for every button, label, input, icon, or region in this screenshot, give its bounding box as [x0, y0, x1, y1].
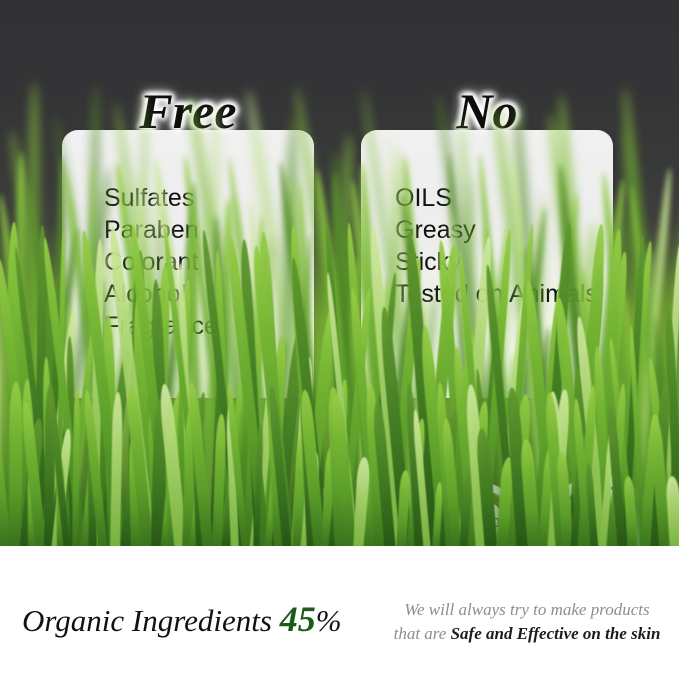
- organic-ingredients-stat: Organic Ingredients 45%: [22, 602, 342, 638]
- tagline: We will always try to make products that…: [382, 598, 672, 646]
- organic-ingredients-unit: %: [316, 603, 342, 638]
- card-heading-no: No: [361, 86, 613, 136]
- tagline-line2-prefix: that are: [394, 624, 451, 643]
- infographic-page: Free Sulfates Paraben Colorant Alcohol F…: [0, 0, 679, 679]
- tagline-line2-strong: Safe and Effective on the skin: [451, 624, 661, 643]
- grass-photo-background: [0, 0, 679, 546]
- organic-ingredients-value: 45: [280, 599, 316, 639]
- tagline-line1: We will always try to make products: [404, 600, 649, 619]
- organic-ingredients-label: Organic Ingredients: [22, 603, 272, 638]
- card-heading-free: Free: [62, 86, 314, 136]
- footer-bar: Organic Ingredients 45% We will always t…: [0, 546, 679, 679]
